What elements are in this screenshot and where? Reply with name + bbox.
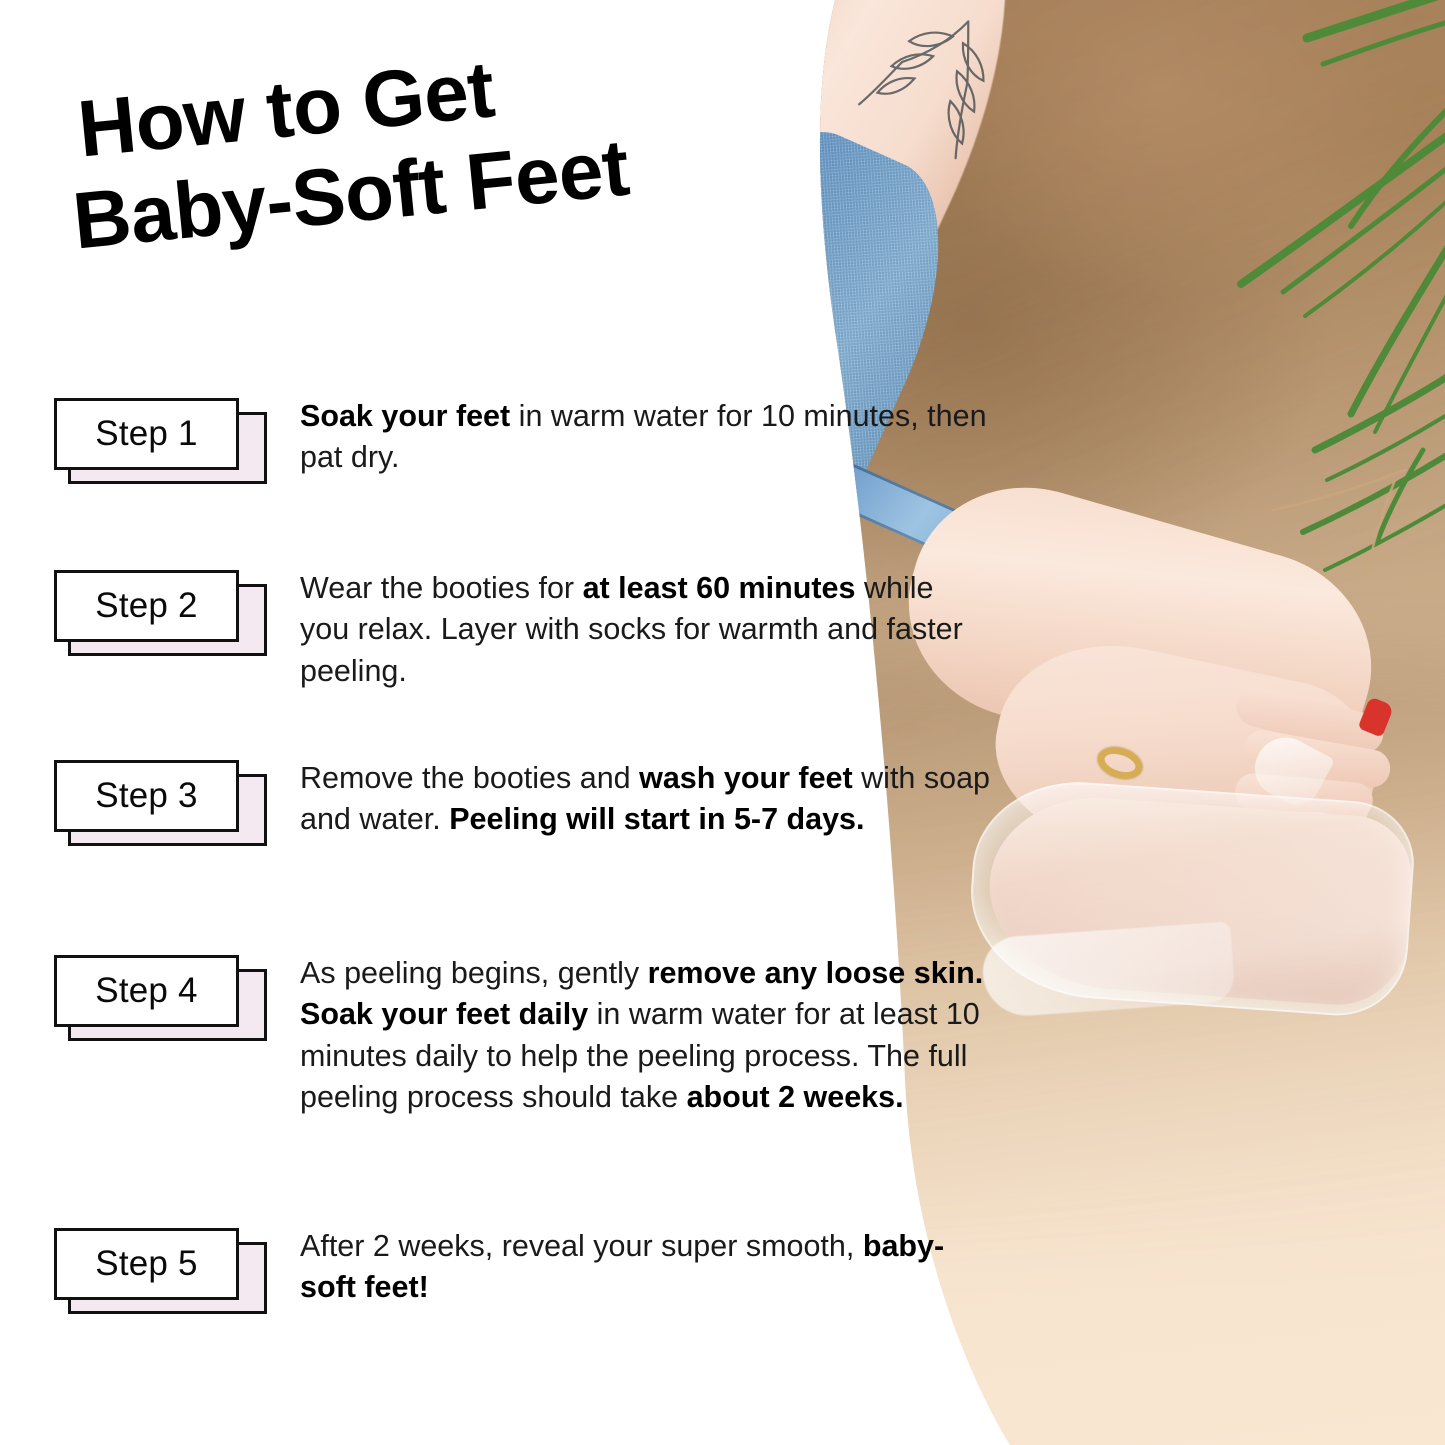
step-description-2: Wear the booties for at least 60 minutes… <box>300 568 990 692</box>
step-badge-3: Step 3 <box>54 760 254 846</box>
step-description-3: Remove the booties and wash your feet wi… <box>300 758 990 841</box>
step-badge-box: Step 2 <box>54 570 239 642</box>
step-badge-1: Step 1 <box>54 398 254 484</box>
emphasis-text: about 2 weeks. <box>687 1080 904 1114</box>
body-text: As peeling begins, gently <box>300 956 648 990</box>
step-badge-label: Step 1 <box>95 414 197 454</box>
step-badge-5: Step 5 <box>54 1228 254 1314</box>
step-description-4: As peeling begins, gently remove any loo… <box>300 953 990 1119</box>
step-badge-label: Step 2 <box>95 586 197 626</box>
steps-list: Step 1Soak your feet in warm water for 1… <box>0 0 980 1445</box>
step-badge-2: Step 2 <box>54 570 254 656</box>
body-text: Wear the booties for <box>300 571 583 605</box>
step-badge-label: Step 5 <box>95 1244 197 1284</box>
emphasis-text: wash your feet <box>639 761 853 795</box>
palm-frond-icon <box>1155 0 1445 600</box>
step-badge-label: Step 4 <box>95 971 197 1011</box>
step-badge-box: Step 4 <box>54 955 239 1027</box>
step-badge-box: Step 1 <box>54 398 239 470</box>
infographic-page: How to Get Baby-Soft Feet Step 1Soak you… <box>0 0 1445 1445</box>
body-text: Remove the booties and <box>300 761 639 795</box>
step-description-5: After 2 weeks, reveal your super smooth,… <box>300 1226 990 1309</box>
step-badge-label: Step 3 <box>95 776 197 816</box>
emphasis-text: at least 60 minutes <box>583 571 856 605</box>
step-description-1: Soak your feet in warm water for 10 minu… <box>300 396 990 479</box>
step-badge-4: Step 4 <box>54 955 254 1041</box>
step-badge-box: Step 5 <box>54 1228 239 1300</box>
emphasis-text: Soak your feet <box>300 399 510 433</box>
emphasis-text: Peeling will start in 5-7 days. <box>449 802 864 836</box>
body-text: After 2 weeks, reveal your super smooth, <box>300 1229 863 1263</box>
step-badge-box: Step 3 <box>54 760 239 832</box>
